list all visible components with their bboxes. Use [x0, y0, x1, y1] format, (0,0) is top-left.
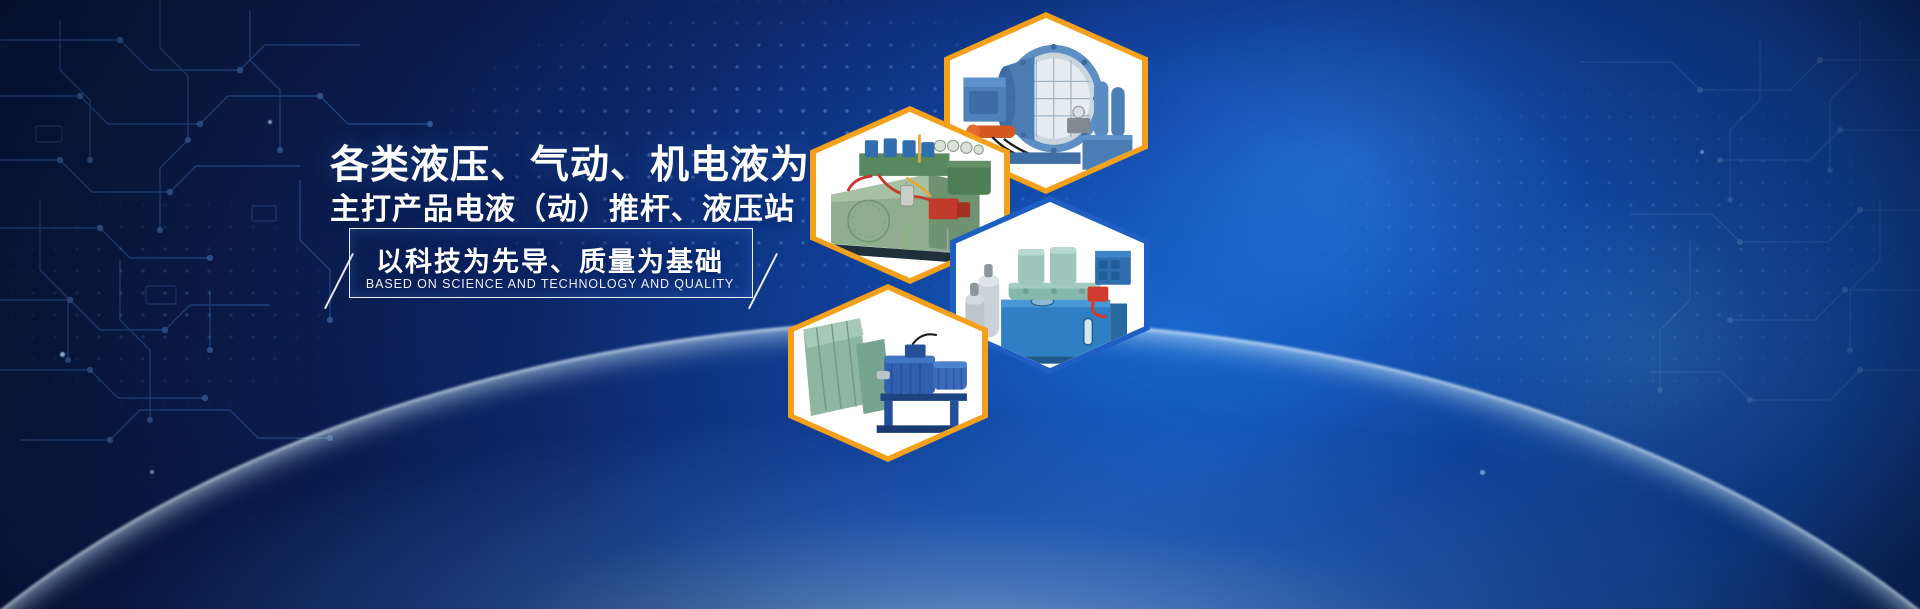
dot-grid-right: [1180, 40, 1920, 460]
product-hexagon-cluster: [770, 0, 1190, 609]
banner-headline-primary: 各类液压、气动、机电液为一体: [330, 134, 790, 190]
particle-dot: [1480, 470, 1485, 475]
electro-hydraulic-pusher-feeder-photo: [794, 290, 982, 456]
hero-banner: 各类液压、气动、机电液为一体 主打产品电液（动）推杆、液压站 以科技为先导、质量…: [0, 0, 1920, 609]
slogan-english: BASED ON SCIENCE AND TECHNOLOGY AND QUAL…: [349, 277, 751, 291]
banner-headline-secondary: 主打产品电液（动）推杆、液压站: [330, 184, 790, 228]
hexagon-photo-frame: [794, 290, 982, 456]
particle-dot: [1700, 150, 1704, 154]
banner-text-block: 各类液压、气动、机电液为一体 主打产品电液（动）推杆、液压站 以科技为先导、质量…: [0, 0, 830, 609]
background-glow-right: [1340, 120, 1920, 580]
slogan-chinese: 以科技为先导、质量为基础: [349, 240, 751, 279]
